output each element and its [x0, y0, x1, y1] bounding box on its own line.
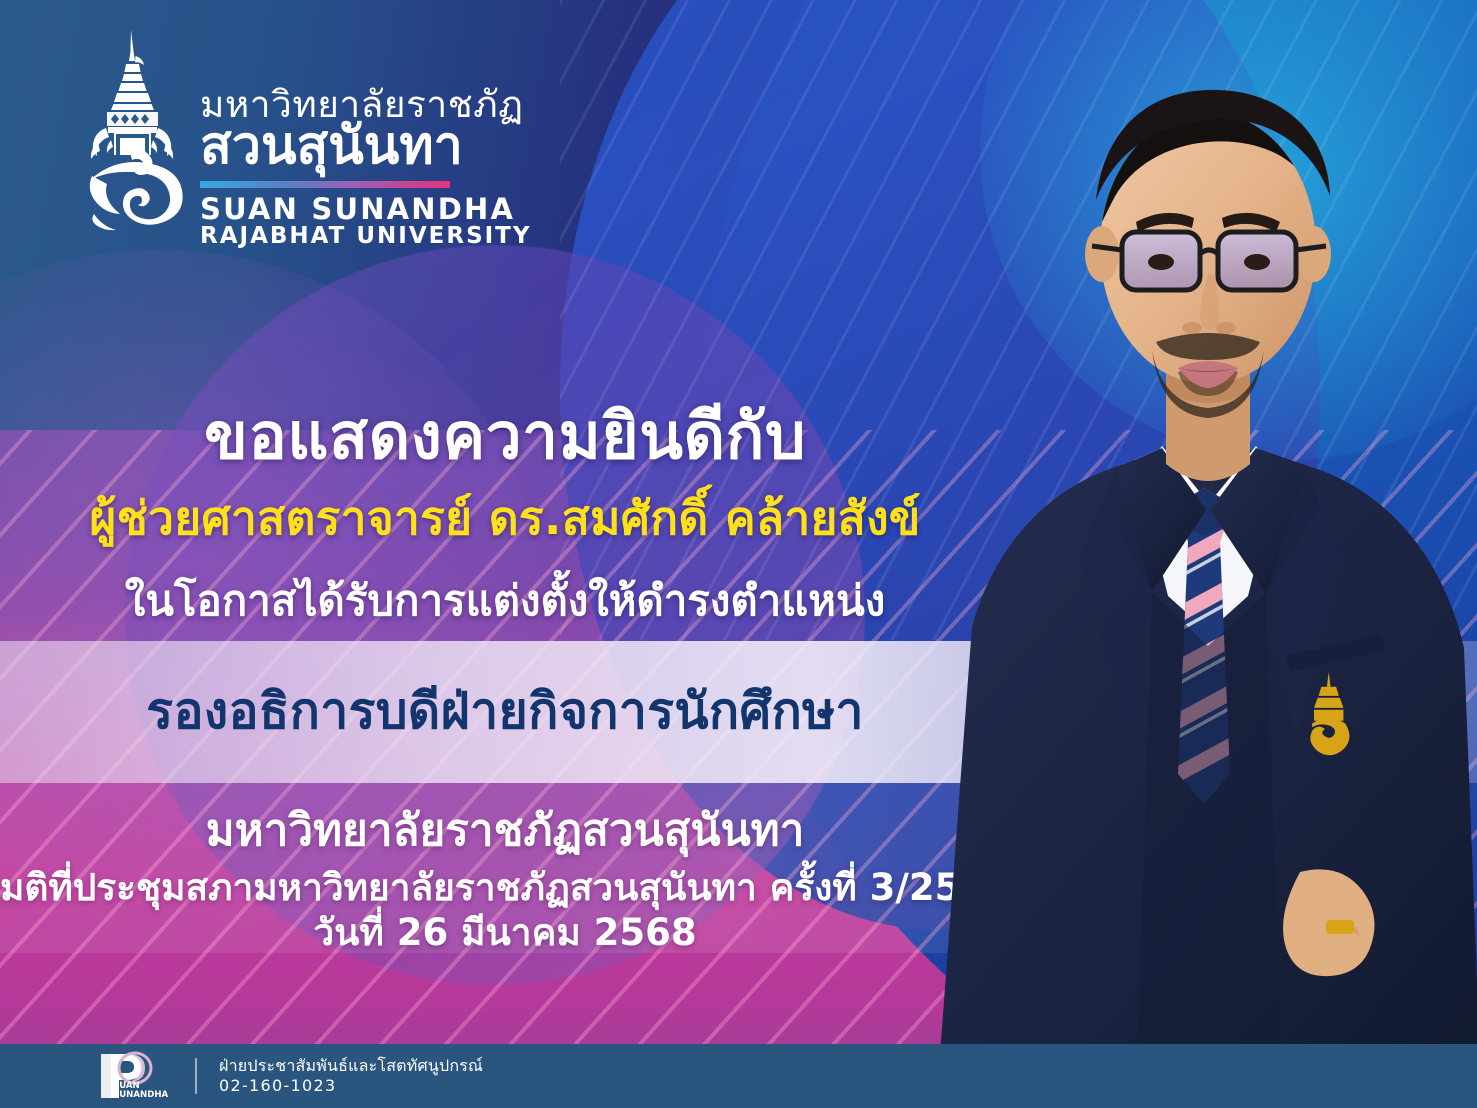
logo-english-line-1: SUAN SUNANDHA — [200, 194, 532, 225]
university-logo: มหาวิทยาลัยราชภัฏ สวนสุนันทา SUAN SUNAND… — [78, 28, 532, 250]
pr-logo-sunandha-text: SUNANDHA — [113, 1090, 169, 1100]
honoree-portrait-photo — [930, 36, 1477, 1108]
logo-thai-line-2: สวนสุนันทา — [200, 120, 532, 172]
ssru-thai-crown-emblem-icon — [78, 28, 186, 243]
footer-department: ฝ่ายประชาสัมพันธ์และโสตทัศนูปกรณ์ — [219, 1056, 483, 1076]
footer-phone[interactable]: 02-160-1023 — [219, 1076, 483, 1096]
position-title: รองอธิการบดีฝ่ายกิจการนักศึกษา — [0, 672, 1010, 751]
footer-contact-info: ฝ่ายประชาสัมพันธ์และโสตทัศนูปกรณ์ 02-160… — [219, 1056, 483, 1097]
occasion-text: ในโอกาสได้รับการแต่งตั้งให้ดำรงตำแหน่ง — [0, 568, 1010, 634]
footer-bar: SUAN SUNANDHA ฝ่ายประชาสัมพันธ์และโสตทัศ… — [0, 1044, 1477, 1108]
congratulations-heading: ขอแสดงความยินดีกับ — [0, 385, 1010, 487]
honoree-name: ผู้ช่วยศาสตราจารย์ ดร.สมศักดิ์ คล้ายสังข… — [0, 482, 1010, 555]
congratulation-banner: มหาวิทยาลัยราชภัฏ สวนสุนันทา SUAN SUNAND… — [0, 0, 1477, 1108]
logo-gradient-rule — [200, 181, 450, 188]
university-name: มหาวิทยาลัยราชภัฏสวนสุนันทา — [0, 795, 1010, 865]
resolution-date: วันที่ 26 มีนาคม 2568 — [0, 903, 1010, 962]
logo-english-line-2: RAJABHAT UNIVERSITY — [200, 224, 532, 250]
footer-divider — [195, 1058, 197, 1094]
logo-wordmark: มหาวิทยาลัยราชภัฏ สวนสุนันทา SUAN SUNAND… — [200, 28, 532, 250]
pr-suan-sunandha-monogram-icon: SUAN SUNANDHA — [95, 1051, 173, 1101]
